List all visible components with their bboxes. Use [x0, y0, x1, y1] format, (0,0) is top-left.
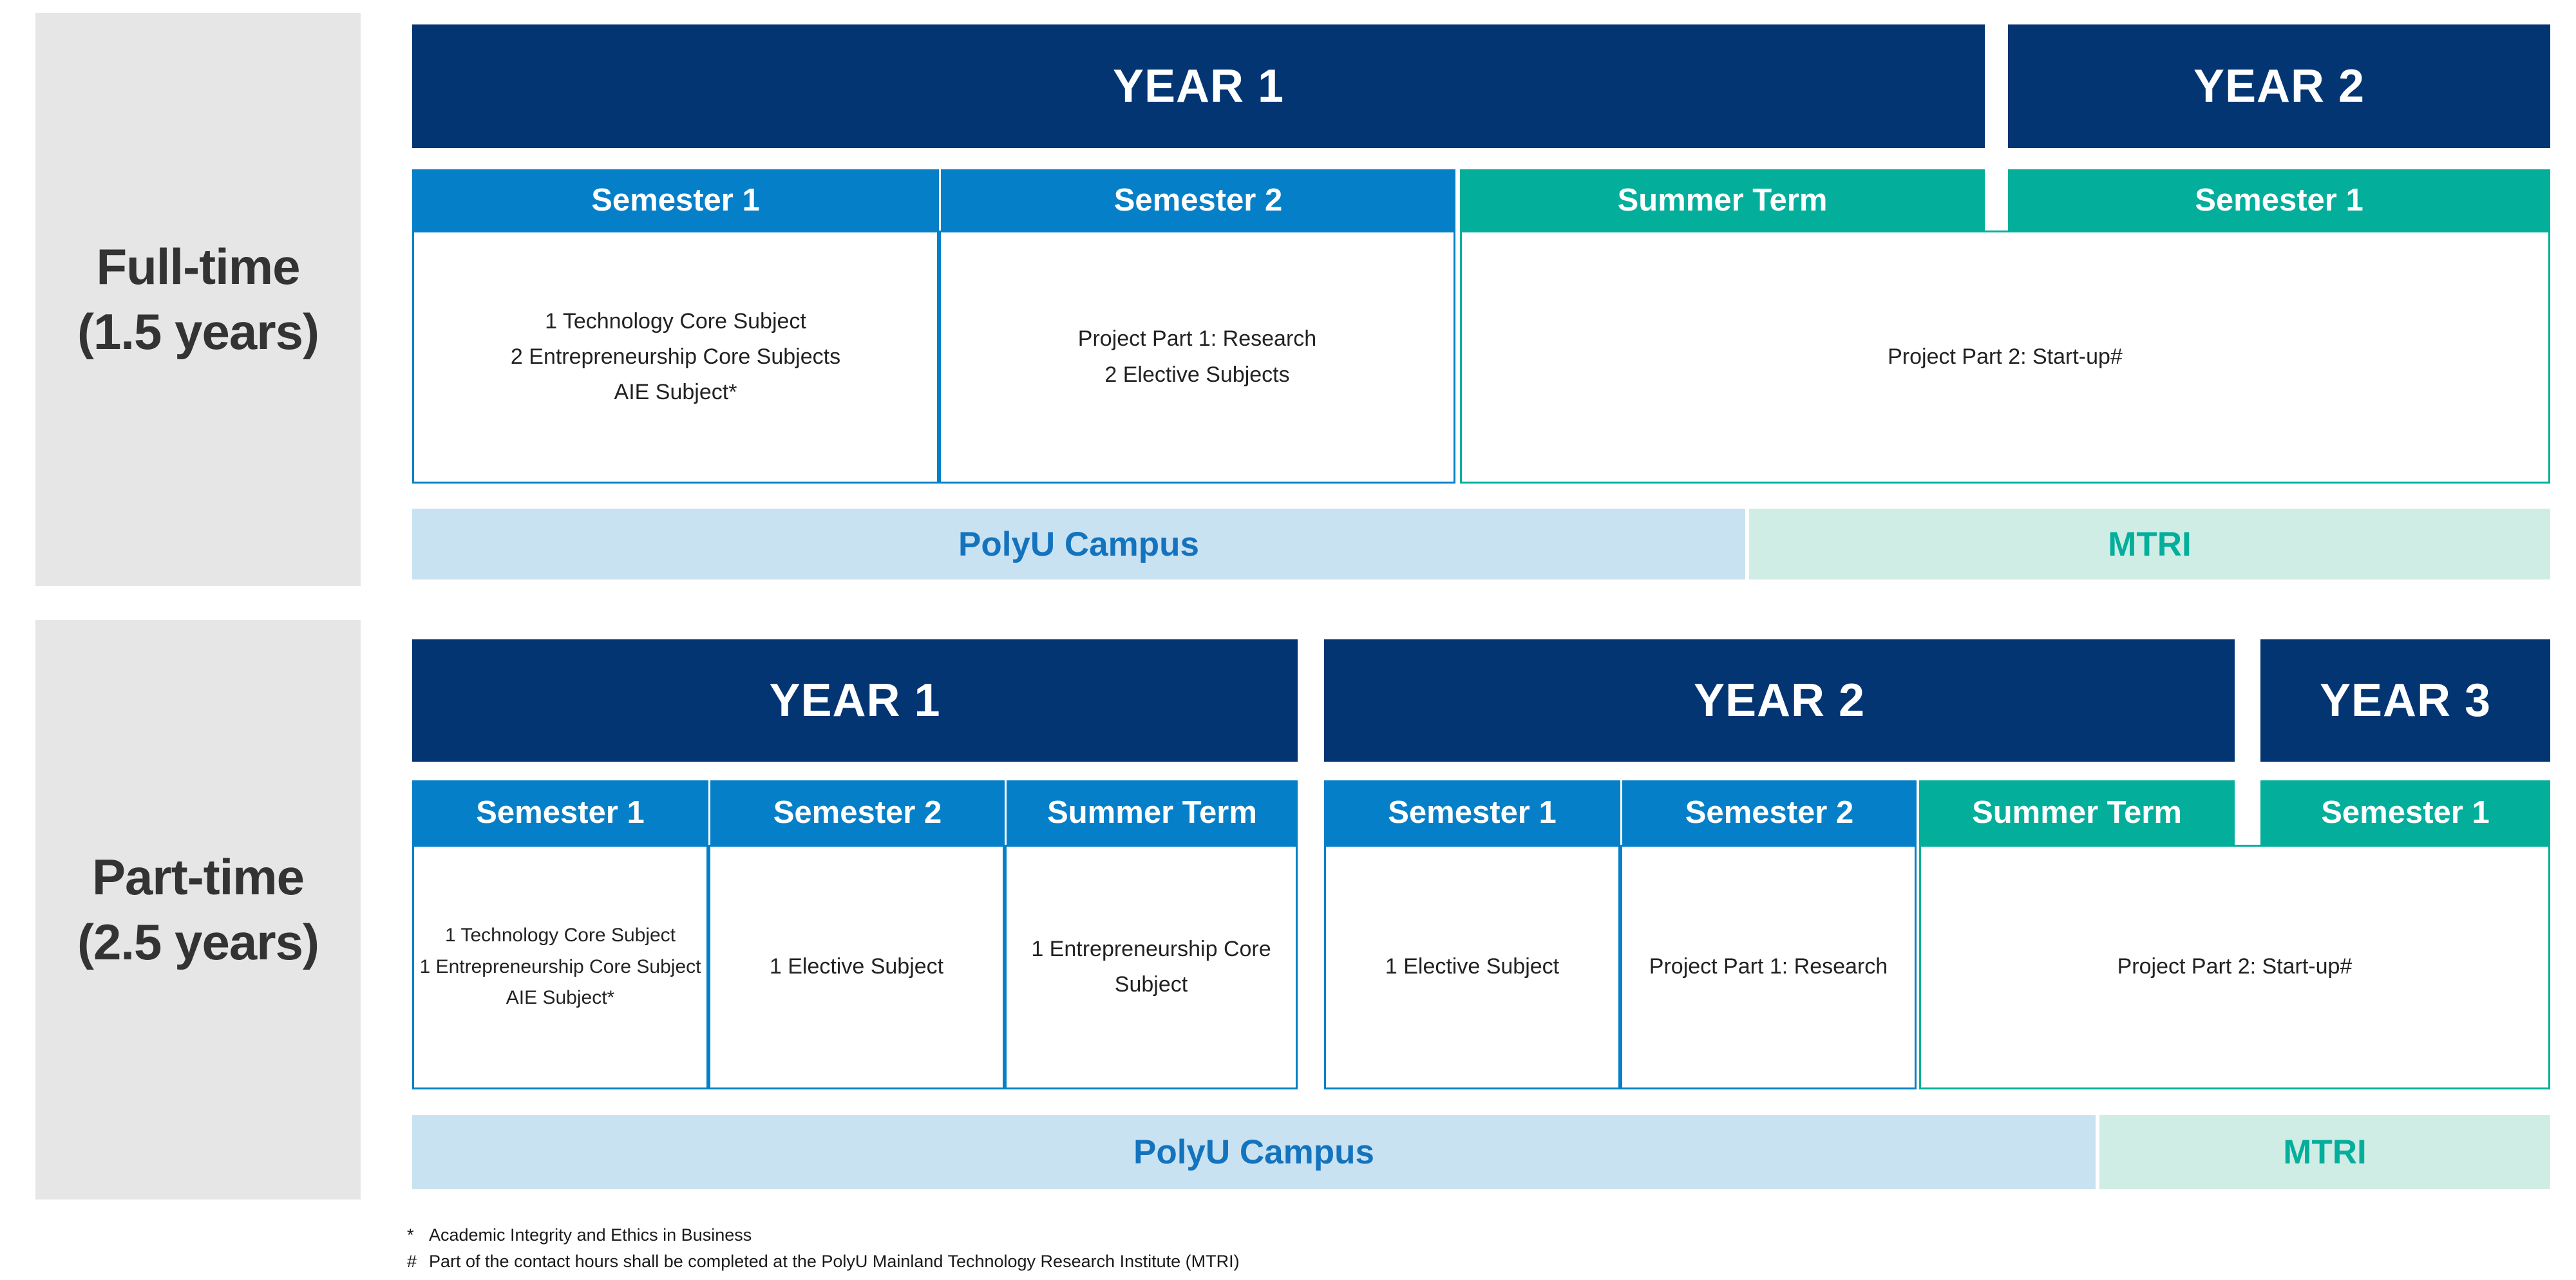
- pt-term-label-2: Summer Term: [1047, 795, 1257, 831]
- pt-year-1-banner: YEAR 1: [412, 639, 1298, 762]
- footnote-hash-text: Part of the contact hours shall be compl…: [429, 1248, 2081, 1275]
- pt-term-label-3: Semester 1: [1388, 795, 1557, 831]
- pt-term-header-y1-semester-1: Semester 1: [412, 780, 708, 845]
- footnote-asterisk-mark: *: [407, 1222, 429, 1248]
- pt-term-label-5: Summer Term: [1972, 795, 2182, 831]
- pt-term-header-y3-semester-1: Semester 1: [2260, 780, 2550, 845]
- part-time-label-duration: (2.5 years): [77, 910, 319, 975]
- footnote-hash: # Part of the contact hours shall be com…: [407, 1248, 2081, 1275]
- full-time-label-duration: (1.5 years): [77, 299, 319, 364]
- ft-year-1-banner: YEAR 1: [412, 24, 1985, 148]
- pt-term-label-4: Semester 2: [1685, 795, 1854, 831]
- ft-term-label-1: Semester 2: [1114, 182, 1283, 218]
- pt-term-label-0: Semester 1: [476, 795, 645, 831]
- pt-term-header-y1-semester-2: Semester 2: [708, 780, 1005, 845]
- ft-content-cell-semester-1: 1 Technology Core Subject 2 Entrepreneur…: [412, 231, 939, 484]
- footnote-asterisk-text: Academic Integrity and Ethics in Busines…: [429, 1222, 2081, 1248]
- footnote-asterisk: * Academic Integrity and Ethics in Busin…: [407, 1222, 2081, 1248]
- ft-cell-0-text: 1 Technology Core Subject 2 Entrepreneur…: [511, 304, 840, 410]
- pt-year-1-label: YEAR 1: [769, 674, 940, 727]
- pt-cell-1-text: 1 Elective Subject: [770, 949, 943, 984]
- pt-cell-3-text: 1 Elective Subject: [1385, 949, 1559, 984]
- pt-cell-0-text: 1 Technology Core Subject 1 Entrepreneur…: [420, 920, 701, 1014]
- ft-content-cell-project-part-2: Project Part 2: Start-up#: [1460, 231, 2550, 484]
- full-time-label-main: Full-time: [97, 234, 300, 299]
- programme-structure-diagram: Full-time (1.5 years) YEAR 1 YEAR 2 Seme…: [0, 0, 2576, 1280]
- pt-term-label-6: Semester 1: [2321, 795, 2490, 831]
- pt-cell-2-text: 1 Entrepreneurship Core Subject: [1016, 932, 1287, 1002]
- pt-location-bar-mtri: MTRI: [2099, 1115, 2550, 1189]
- ft-term-header-semester-2: Semester 2: [939, 169, 1455, 231]
- ft-term-label-2: Summer Term: [1618, 182, 1828, 218]
- ft-year-2-banner: YEAR 2: [2008, 24, 2550, 148]
- ft-location-label-0: PolyU Campus: [958, 525, 1199, 564]
- ft-term-header-summer-term: Summer Term: [1460, 169, 1985, 231]
- pt-term-header-y2-semester-2: Semester 2: [1620, 780, 1917, 845]
- pt-year-2-label: YEAR 2: [1694, 674, 1865, 727]
- pt-year-3-banner: YEAR 3: [2260, 639, 2550, 762]
- part-time-mode-panel: Part-time (2.5 years): [35, 620, 361, 1200]
- ft-term-header-year2-semester-1: Semester 1: [2008, 169, 2550, 231]
- ft-location-bar-mtri: MTRI: [1749, 509, 2550, 579]
- pt-cell-4-text: Project Part 1: Research: [1649, 949, 1888, 984]
- pt-term-label-1: Semester 2: [773, 795, 942, 831]
- footnote-hash-mark: #: [407, 1248, 429, 1275]
- pt-term-header-y2-semester-1: Semester 1: [1324, 780, 1620, 845]
- pt-content-cell-y1-semester-1: 1 Technology Core Subject 1 Entrepreneur…: [412, 845, 708, 1089]
- ft-year-1-label: YEAR 1: [1113, 60, 1284, 113]
- pt-cell-5-text: Project Part 2: Start-up#: [2117, 949, 2353, 984]
- pt-content-cell-project-part-2: Project Part 2: Start-up#: [1919, 845, 2550, 1089]
- ft-cell-2-text: Project Part 2: Start-up#: [1888, 339, 2123, 375]
- pt-year-2-banner: YEAR 2: [1324, 639, 2235, 762]
- pt-term-header-y1-summer-term: Summer Term: [1005, 780, 1298, 845]
- ft-term-label-3: Semester 1: [2195, 182, 2363, 218]
- pt-term-header-y2-summer-term: Summer Term: [1919, 780, 2235, 845]
- ft-location-bar-polyu-campus: PolyU Campus: [412, 509, 1745, 579]
- ft-content-cell-semester-2: Project Part 1: Research 2 Elective Subj…: [939, 231, 1455, 484]
- pt-content-cell-y2-semester-1: 1 Elective Subject: [1324, 845, 1620, 1089]
- pt-location-label-0: PolyU Campus: [1133, 1133, 1374, 1172]
- pt-location-label-1: MTRI: [2283, 1133, 2367, 1172]
- pt-content-cell-y1-semester-2: 1 Elective Subject: [708, 845, 1005, 1089]
- ft-term-header-semester-1: Semester 1: [412, 169, 939, 231]
- full-time-mode-panel: Full-time (1.5 years): [35, 13, 361, 586]
- ft-location-label-1: MTRI: [2108, 525, 2192, 564]
- pt-location-bar-polyu-campus: PolyU Campus: [412, 1115, 2096, 1189]
- pt-content-cell-y1-summer-term: 1 Entrepreneurship Core Subject: [1005, 845, 1298, 1089]
- ft-cell-1-text: Project Part 1: Research 2 Elective Subj…: [1078, 321, 1316, 392]
- ft-term-label-0: Semester 1: [591, 182, 760, 218]
- pt-year-3-label: YEAR 3: [2320, 674, 2491, 727]
- ft-year-2-label: YEAR 2: [2193, 60, 2365, 113]
- footnotes: * Academic Integrity and Ethics in Busin…: [407, 1222, 2081, 1275]
- pt-content-cell-y2-semester-2: Project Part 1: Research: [1620, 845, 1917, 1089]
- part-time-label-main: Part-time: [92, 845, 304, 910]
